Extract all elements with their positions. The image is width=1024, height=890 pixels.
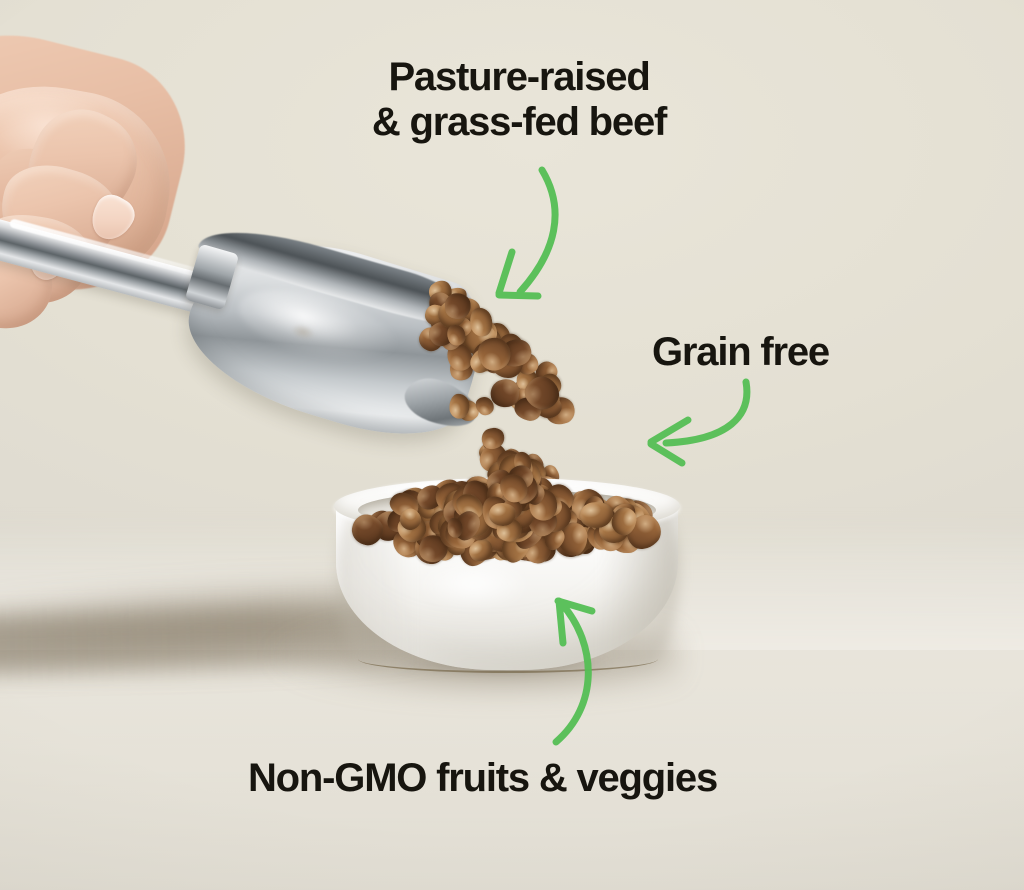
annotation-non-gmo-label: Non-GMO fruits & veggies bbox=[248, 756, 717, 800]
annotation-pasture-raised-line1: Pasture-raised bbox=[388, 55, 649, 99]
annotation-non-gmo: Non-GMO fruits & veggies bbox=[248, 756, 717, 801]
annotation-grain-free-label: Grain free bbox=[652, 330, 829, 374]
kibble-piece bbox=[449, 393, 469, 418]
product-photo-scene: Pasture-raised & grass-fed beef Grain fr… bbox=[0, 0, 1024, 890]
bowl-front-highlight bbox=[400, 556, 560, 626]
annotation-pasture-raised: Pasture-raised & grass-fed beef bbox=[352, 55, 686, 145]
annotation-pasture-raised-line2: & grass-fed beef bbox=[352, 100, 686, 145]
annotation-grain-free: Grain free bbox=[652, 330, 829, 375]
